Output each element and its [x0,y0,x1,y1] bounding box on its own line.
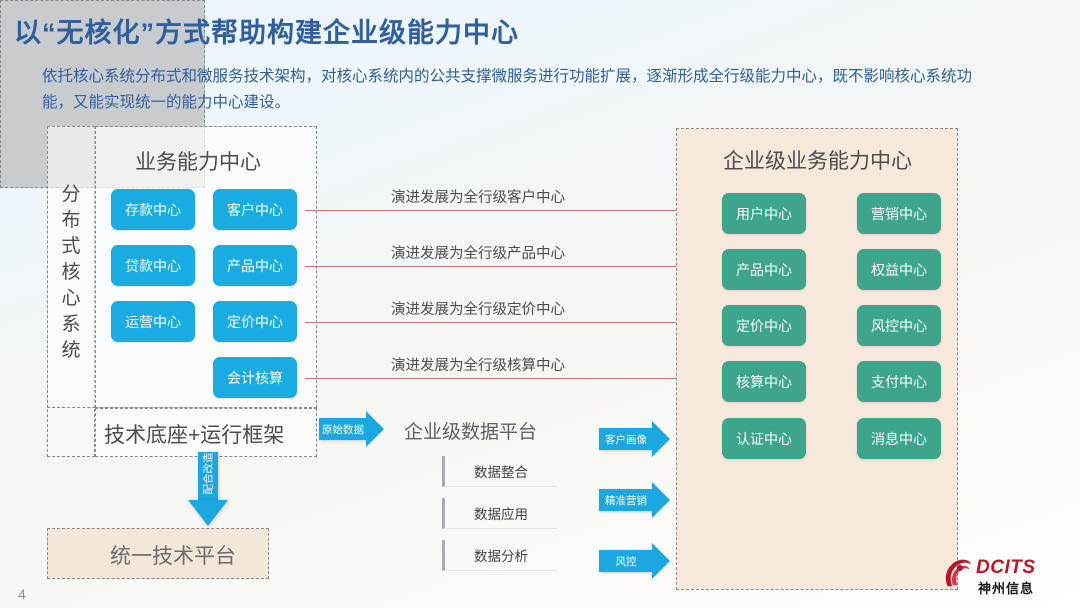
page-title: 以“无核化”方式帮助构建企业级能力中心 [14,11,519,50]
business-capability-center-title: 业务能力中心 [135,146,261,176]
enterprise-box-rights[interactable]: 权益中心 [857,249,941,290]
enterprise-box-pricing[interactable]: 定价中心 [722,305,806,346]
arrow-adaptation-label: 配合改造 [201,448,216,500]
enterprise-capability-center-title: 企业级业务能力中心 [723,145,912,175]
dcits-logo-en: DCITS [976,557,1036,579]
data-platform-item-integration[interactable]: 数据整合 [442,456,557,487]
capability-box-operation[interactable]: 运营中心 [111,301,195,342]
enterprise-box-user[interactable]: 用户中心 [722,193,806,234]
evolution-label-customer: 演进发展为全行级客户中心 [391,186,565,207]
arrow-raw-data-label: 原始数据 [322,422,364,437]
enterprise-data-platform-title: 企业级数据平台 [404,417,537,444]
core-label-char-6: 统 [54,338,88,364]
distributed-core-system-vertical-label: 分 布 式 核 心 系 统 [54,182,88,364]
enterprise-box-authentication[interactable]: 认证中心 [722,418,806,459]
tech-base-label: 技术底座+运行框架 [104,419,284,449]
arrow-customer-profile-label: 客户画像 [605,432,647,447]
arrow-adaptation-head [188,500,228,526]
arrow-risk-control-label: 风控 [616,554,637,569]
enterprise-box-marketing[interactable]: 营销中心 [857,193,941,234]
evolution-line-product [305,266,703,267]
page-subtitle: 依托核心系统分布式和微服务技术架构，对核心系统内的公共支撑微服务进行功能扩展，逐… [42,64,972,116]
evolution-line-customer [305,210,703,211]
capability-box-deposit[interactable]: 存款中心 [111,189,195,230]
core-label-char-4: 心 [54,286,88,312]
core-label-char-1: 布 [54,208,88,234]
arrow-adaptation: 配合改造 [188,452,228,528]
arrow-risk-control: 风控 [599,550,653,572]
slide-canvas: 以“无核化”方式帮助构建企业级能力中心 依托核心系统分布式和微服务技术架构，对核… [0,0,1080,608]
data-platform-item-application[interactable]: 数据应用 [442,498,557,529]
core-label-char-2: 式 [54,234,88,260]
evolution-label-product: 演进发展为全行级产品中心 [391,242,565,263]
capability-box-product[interactable]: 产品中心 [213,245,297,286]
dcits-logo: DCITS 神州信息 [942,554,1068,596]
arrow-raw-data: 原始数据 [319,418,367,440]
capability-box-accounting[interactable]: 会计核算 [213,357,297,398]
dcits-logo-mark [942,558,972,590]
enterprise-box-payment[interactable]: 支付中心 [857,361,941,402]
evolution-line-accounting [305,378,703,379]
enterprise-box-message[interactable]: 消息中心 [857,418,941,459]
data-platform-item-analysis[interactable]: 数据分析 [442,540,557,571]
enterprise-box-risk-control[interactable]: 风控中心 [857,305,941,346]
unified-tech-platform-title: 统一技术平台 [110,540,236,570]
dcits-logo-cn: 神州信息 [978,578,1034,597]
capability-box-pricing[interactable]: 定价中心 [213,301,297,342]
evolution-label-pricing: 演进发展为全行级定价中心 [391,298,565,319]
evolution-line-pricing [305,322,703,323]
page-number: 4 [18,586,26,602]
evolution-label-accounting: 演进发展为全行级核算中心 [391,354,565,375]
core-label-char-5: 系 [54,312,88,338]
capability-box-loan[interactable]: 贷款中心 [111,245,195,286]
arrow-precision-marketing-label: 精准营销 [605,493,647,508]
enterprise-box-accounting[interactable]: 核算中心 [722,361,806,402]
arrow-precision-marketing: 精准营销 [599,489,653,511]
core-label-char-3: 核 [54,260,88,286]
enterprise-box-product[interactable]: 产品中心 [722,249,806,290]
arrow-customer-profile: 客户画像 [599,428,653,450]
core-label-char-0: 分 [54,182,88,208]
capability-box-customer[interactable]: 客户中心 [213,189,297,230]
